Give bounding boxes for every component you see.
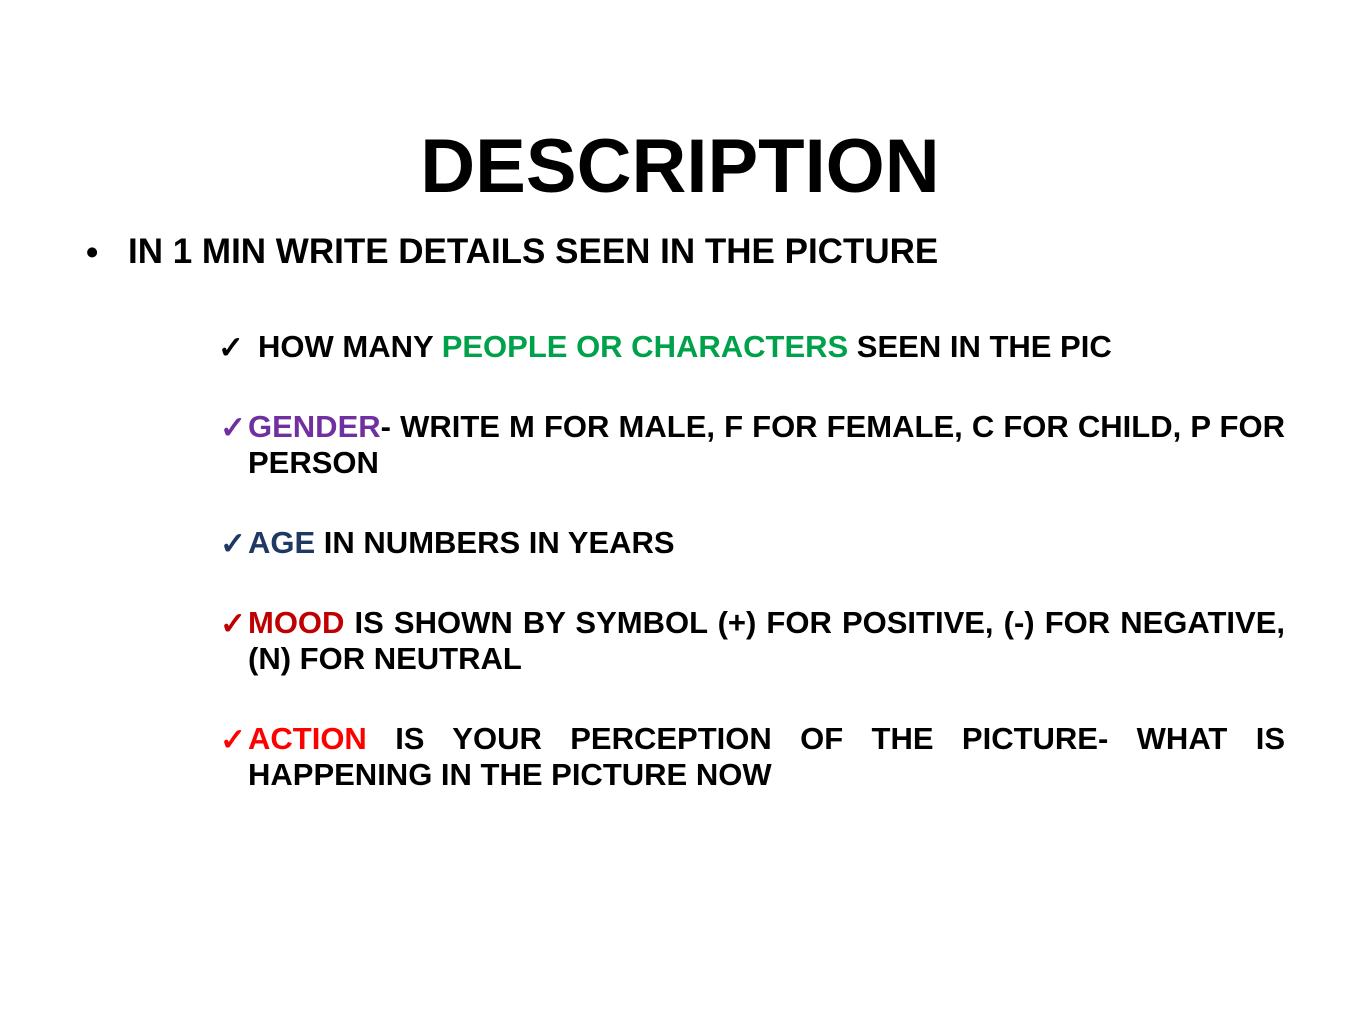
slide-body: • IN 1 MIN WRITE DETAILS SEEN IN THE PIC… — [0, 232, 1360, 793]
list-item-post-text: IN NUMBERS IN YEARS — [315, 525, 674, 560]
check-icon: ✓ — [220, 722, 246, 758]
list-item-keyword: ACTION — [248, 721, 367, 756]
list-item-keyword: PEOPLE OR CHARACTERS — [442, 329, 848, 364]
main-bullet-text: IN 1 MIN WRITE DETAILS SEEN IN THE PICTU… — [128, 232, 938, 271]
list-item: ✓ HOW MANY PEOPLE OR CHARACTERS SEEN IN … — [0, 329, 1360, 365]
list-item-pre-text: HOW MANY — [258, 329, 442, 364]
list-item-keyword: AGE — [248, 525, 315, 560]
list-item: ✓ ACTION IS YOUR PERCEPTION OF THE PICTU… — [0, 721, 1360, 793]
list-item-keyword: GENDER — [248, 409, 381, 444]
check-icon: ✓ — [220, 526, 246, 562]
check-icon: ✓ — [220, 606, 246, 642]
slide-canvas: DESCRIPTION • IN 1 MIN WRITE DETAILS SEE… — [0, 0, 1360, 1020]
main-bullet-item: • IN 1 MIN WRITE DETAILS SEEN IN THE PIC… — [0, 232, 1360, 271]
list-item-post-text: IS SHOWN BY SYMBOL (+) FOR POSITIVE, (-)… — [248, 605, 1285, 676]
bullet-dot-icon: • — [86, 233, 98, 272]
list-item-post-text: - WRITE M FOR MALE, F FOR FEMALE, C FOR … — [248, 409, 1285, 480]
list-item: ✓ GENDER- WRITE M FOR MALE, F FOR FEMALE… — [0, 409, 1360, 481]
list-item: ✓ AGE IN NUMBERS IN YEARS — [0, 525, 1360, 561]
check-list: ✓ HOW MANY PEOPLE OR CHARACTERS SEEN IN … — [0, 329, 1360, 793]
check-icon: ✓ — [218, 330, 244, 366]
list-item-post-text: IS YOUR PERCEPTION OF THE PICTURE- WHAT … — [248, 721, 1285, 792]
list-item: ✓ MOOD IS SHOWN BY SYMBOL (+) FOR POSITI… — [0, 605, 1360, 677]
check-icon: ✓ — [220, 410, 246, 446]
page-title: DESCRIPTION — [0, 129, 1360, 205]
list-item-keyword: MOOD — [248, 605, 344, 640]
list-item-post-text: SEEN IN THE PIC — [848, 329, 1112, 364]
